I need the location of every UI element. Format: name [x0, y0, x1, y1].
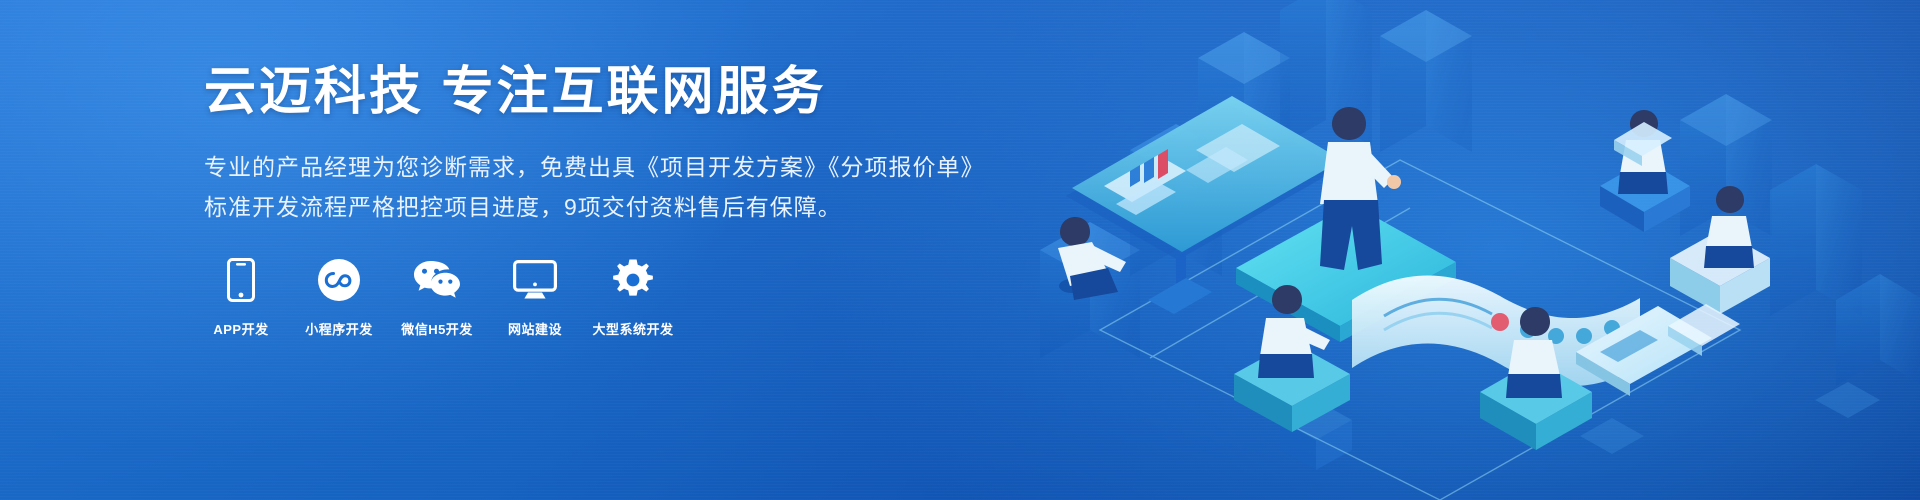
service-label-app: APP开发: [213, 319, 268, 338]
service-label-wechat: 微信H5开发: [401, 319, 473, 338]
subtitle-line-1: 专业的产品经理为您诊断需求，免费出具《项目开发方案》《分项报价单》: [204, 147, 985, 187]
mini-program-icon: [317, 257, 361, 303]
illustration-svg: [980, 0, 1920, 500]
monitor-icon: [513, 257, 557, 303]
page-title: 云迈科技 专注互联网服务: [204, 64, 985, 121]
service-item-website[interactable]: 网站建设: [498, 257, 572, 338]
service-item-wechat[interactable]: 微信H5开发: [400, 257, 474, 338]
gear-icon: [611, 257, 655, 303]
hero-illustration: [980, 0, 1920, 500]
service-label-miniprogram: 小程序开发: [305, 319, 373, 338]
service-item-miniprogram[interactable]: 小程序开发: [302, 257, 376, 338]
wechat-icon: [413, 257, 461, 303]
hero-banner: 云迈科技 专注互联网服务 专业的产品经理为您诊断需求，免费出具《项目开发方案》《…: [0, 0, 1920, 500]
mobile-phone-icon: [227, 257, 255, 303]
service-item-app[interactable]: APP开发: [204, 257, 278, 338]
subtitle-line-2: 标准开发流程严格把控项目进度，9项交付资料售后有保障。: [204, 187, 985, 227]
service-label-website: 网站建设: [508, 319, 562, 338]
service-item-system[interactable]: 大型系统开发: [596, 257, 670, 338]
service-list: APP开发 小程序开发: [204, 257, 985, 338]
hero-content: 云迈科技 专注互联网服务 专业的产品经理为您诊断需求，免费出具《项目开发方案》《…: [204, 64, 985, 338]
service-label-system: 大型系统开发: [593, 319, 674, 338]
